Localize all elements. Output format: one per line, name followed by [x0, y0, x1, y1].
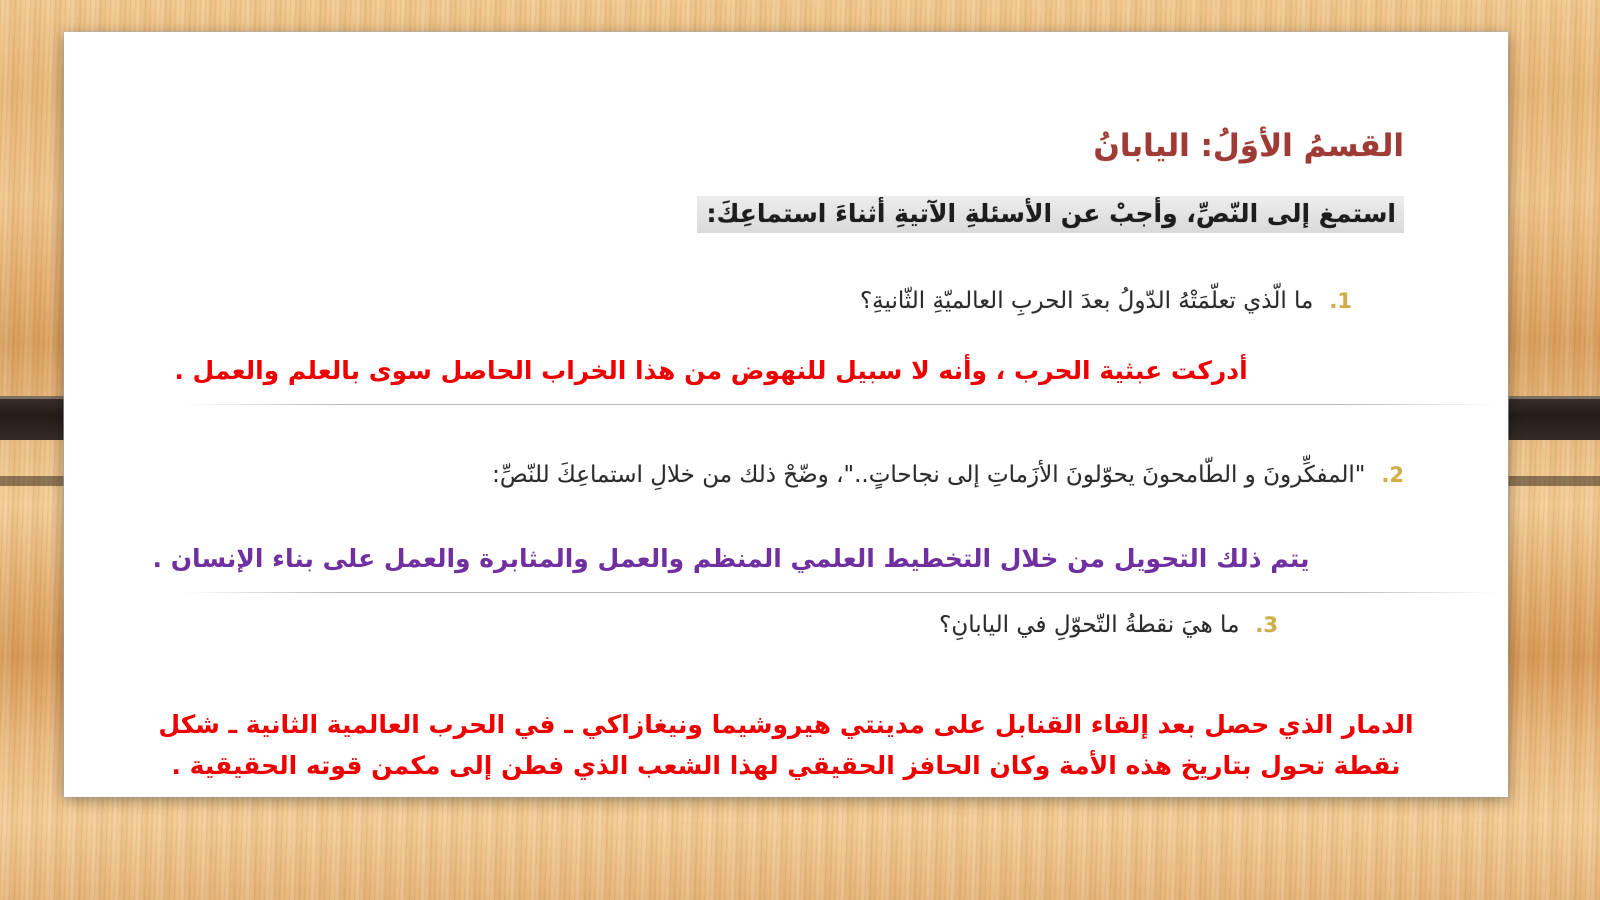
section-title: القسمُ الأوَلُ: اليابانُ	[1093, 128, 1404, 164]
answer-3-line-2: نقطة تحول بتاريخ هذه الأمة وكان الحافز ا…	[124, 745, 1448, 786]
question-2-number: 2.	[1381, 463, 1404, 487]
question-2: 2."المفكِّرونَ و الطّامحونَ يحوّلونَ الأ…	[492, 462, 1404, 488]
question-1-number: 1.	[1329, 289, 1352, 313]
answer-3: الدمار الذي حصل بعد إلقاء القنابل على مد…	[124, 704, 1448, 787]
separator-rule-2	[182, 592, 1498, 593]
question-2-text: "المفكِّرونَ و الطّامحونَ يحوّلونَ الأزَ…	[492, 462, 1365, 488]
instruction-line: استمغ إلى النّصِّ، وأجبْ عن الأسئلةِ الآ…	[697, 196, 1404, 233]
scanned-textbook-excerpt: القسمُ الأوَلُ: اليابانُ استمغ إلى النّص…	[64, 32, 1508, 797]
question-1: 1.ما الّذي تعلّمَتْهُ الدّولُ بعدَ الحرب…	[860, 288, 1352, 314]
separator-rule-1	[182, 404, 1498, 405]
question-3-number: 3.	[1255, 613, 1278, 637]
question-3: 3.ما هيَ نقطةُ التّحوّلِ في اليابانِ؟	[939, 612, 1278, 638]
question-1-text: ما الّذي تعلّمَتْهُ الدّولُ بعدَ الحربِ …	[860, 288, 1313, 314]
answer-1: أدركت عبثية الحرب ، وأنه لا سبيل للنهوض …	[64, 352, 1508, 390]
answer-2: يتم ذلك التحويل من خلال التخطيط العلمي ا…	[64, 540, 1508, 578]
answer-3-line-1: الدمار الذي حصل بعد إلقاء القنابل على مد…	[158, 710, 1413, 739]
slide-stage: القسمُ الأوَلُ: اليابانُ استمغ إلى النّص…	[0, 0, 1600, 900]
slide-content-card: القسمُ الأوَلُ: اليابانُ استمغ إلى النّص…	[64, 32, 1508, 797]
question-3-text: ما هيَ نقطةُ التّحوّلِ في اليابانِ؟	[939, 612, 1239, 638]
